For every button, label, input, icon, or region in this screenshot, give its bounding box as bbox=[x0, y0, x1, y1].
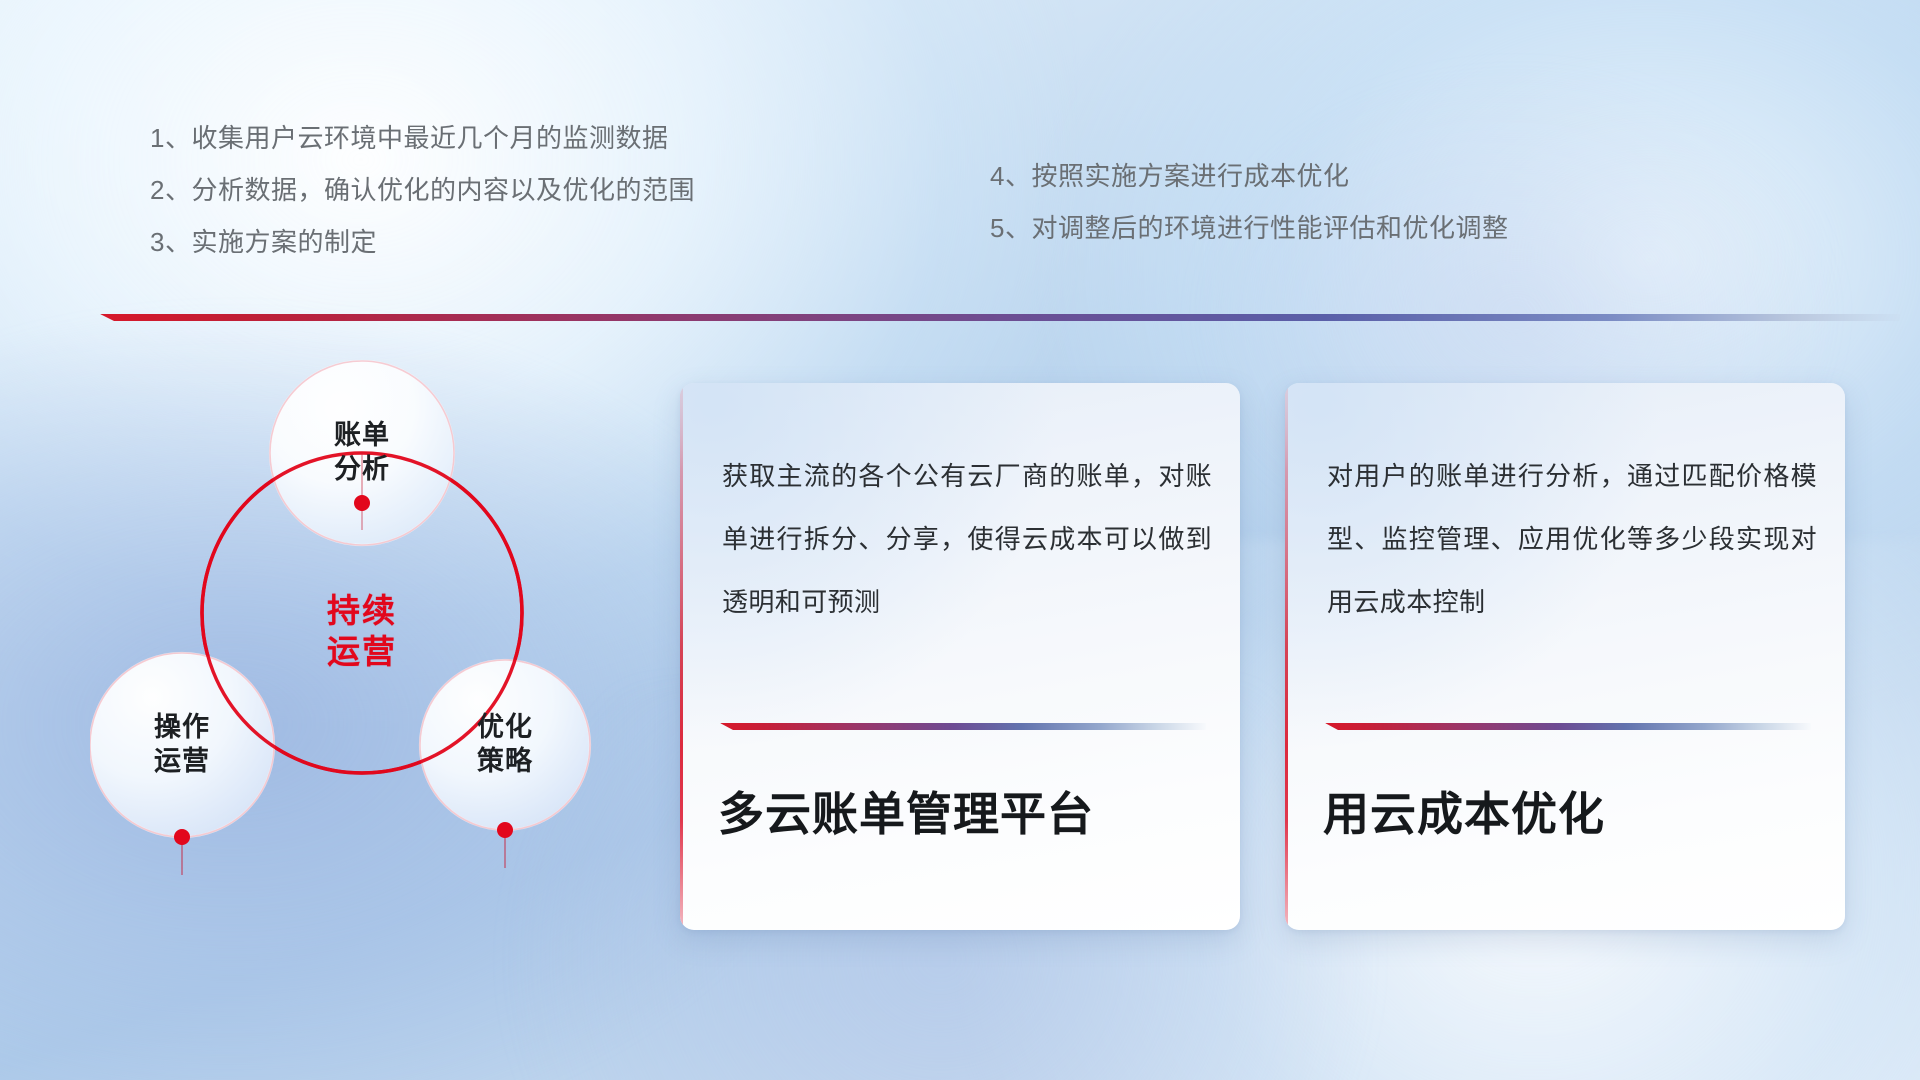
step-item: 2、分析数据，确认优化的内容以及优化的范围 bbox=[150, 164, 695, 216]
steps-right-column: 4、按照实施方案进行成本优化 5、对调整后的环境进行性能评估和优化调整 bbox=[990, 150, 1508, 254]
feature-card[interactable]: 获取主流的各个公有云厂商的账单，对账单进行拆分、分享，使得云成本可以做到透明和可… bbox=[680, 383, 1240, 930]
card-title: 多云账单管理平台 bbox=[718, 778, 1216, 844]
continuous-operation-diagram: 账单 分析 持续 运营 操作 运营 优化 策略 bbox=[90, 345, 650, 945]
feature-card[interactable]: 对用户的账单进行分析，通过匹配价格模型、监控管理、应用优化等多少段实现对用云成本… bbox=[1285, 383, 1845, 930]
step-item: 1、收集用户云环境中最近几个月的监测数据 bbox=[150, 112, 695, 164]
step-item: 5、对调整后的环境进行性能评估和优化调整 bbox=[990, 202, 1508, 254]
step-item: 4、按照实施方案进行成本优化 bbox=[990, 150, 1508, 202]
node-bubble-bottom-left bbox=[90, 653, 274, 837]
diagram-svg bbox=[90, 345, 650, 945]
card-title: 用云成本优化 bbox=[1323, 778, 1821, 844]
steps-section: 1、收集用户云环境中最近几个月的监测数据 2、分析数据，确认优化的内容以及优化的… bbox=[0, 0, 1920, 300]
card-body-text: 获取主流的各个公有云厂商的账单，对账单进行拆分、分享，使得云成本可以做到透明和可… bbox=[722, 445, 1212, 634]
step-item: 3、实施方案的制定 bbox=[150, 216, 695, 268]
connector-bottom-right bbox=[497, 822, 513, 868]
card-divider bbox=[1325, 723, 1811, 730]
connector-bottom-left bbox=[174, 829, 190, 875]
section-divider bbox=[100, 314, 1900, 321]
card-divider bbox=[720, 723, 1206, 730]
card-body-text: 对用户的账单进行分析，通过匹配价格模型、监控管理、应用优化等多少段实现对用云成本… bbox=[1327, 445, 1817, 634]
steps-left-column: 1、收集用户云环境中最近几个月的监测数据 2、分析数据，确认优化的内容以及优化的… bbox=[150, 112, 695, 268]
